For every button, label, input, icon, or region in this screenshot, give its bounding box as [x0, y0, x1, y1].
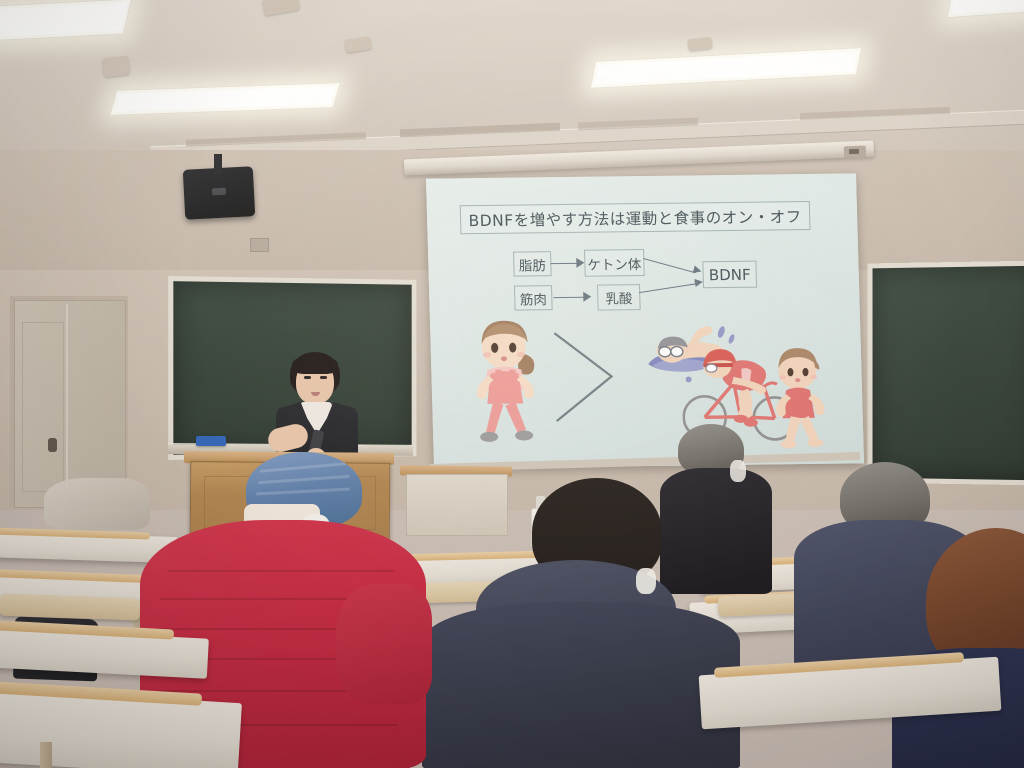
ceiling-speaker — [183, 166, 256, 220]
puffer-seam-1 — [168, 570, 394, 572]
projection-screen: BDNFを増やす方法は運動と食事のオン・オフ 脂肪 ケトン体 筋肉 乳酸 BDN… — [426, 173, 864, 468]
diagram-node-lactate: 乳酸 — [597, 284, 641, 311]
diagram-node-fat: 脂肪 — [513, 251, 552, 276]
covered-equipment — [44, 478, 150, 530]
desk-leg-row1-left — [40, 742, 52, 768]
audience-navy-hood-mask — [636, 568, 656, 594]
presenter-eye-left — [304, 376, 311, 379]
audience-red-jacket-arm — [336, 584, 432, 704]
audience-navy-hood-body — [422, 602, 740, 768]
door-split-line — [66, 304, 68, 504]
ceiling-fixture-d — [687, 37, 712, 51]
classroom-photo: BDNFを増やす方法は運動と食事のオン・オフ 脂肪 ケトン体 筋肉 乳酸 BDN… — [0, 0, 1024, 768]
audience-navy-hood — [440, 478, 740, 768]
walking-person-illustration — [458, 319, 558, 450]
speaker-mount — [214, 154, 222, 174]
door-handle[interactable] — [48, 438, 57, 452]
screen-housing-button[interactable] — [849, 149, 859, 154]
arrowhead-muscle-lactate — [583, 292, 591, 302]
chalk-eraser[interactable] — [196, 436, 226, 446]
presenter-eye-right — [320, 376, 327, 379]
wall-socket — [250, 238, 269, 252]
greater-than-symbol — [548, 326, 621, 427]
diagram-node-ketone: ケトン体 — [584, 249, 645, 277]
diagram-node-bdnf: BDNF — [702, 261, 757, 289]
door-panel-inset — [22, 322, 64, 492]
diagram-node-muscle: 筋肉 — [514, 285, 553, 310]
presenter-fringe — [292, 355, 338, 374]
arrowhead-fat-ketone — [576, 258, 584, 268]
chalkboard-right — [868, 260, 1024, 485]
audience-brown-hair — [912, 528, 1024, 768]
runner-illustration — [761, 346, 844, 455]
ceiling-fixture-c — [102, 56, 130, 78]
slide-title: BDNFを増やす方法は運動と食事のオン・オフ — [460, 201, 811, 234]
